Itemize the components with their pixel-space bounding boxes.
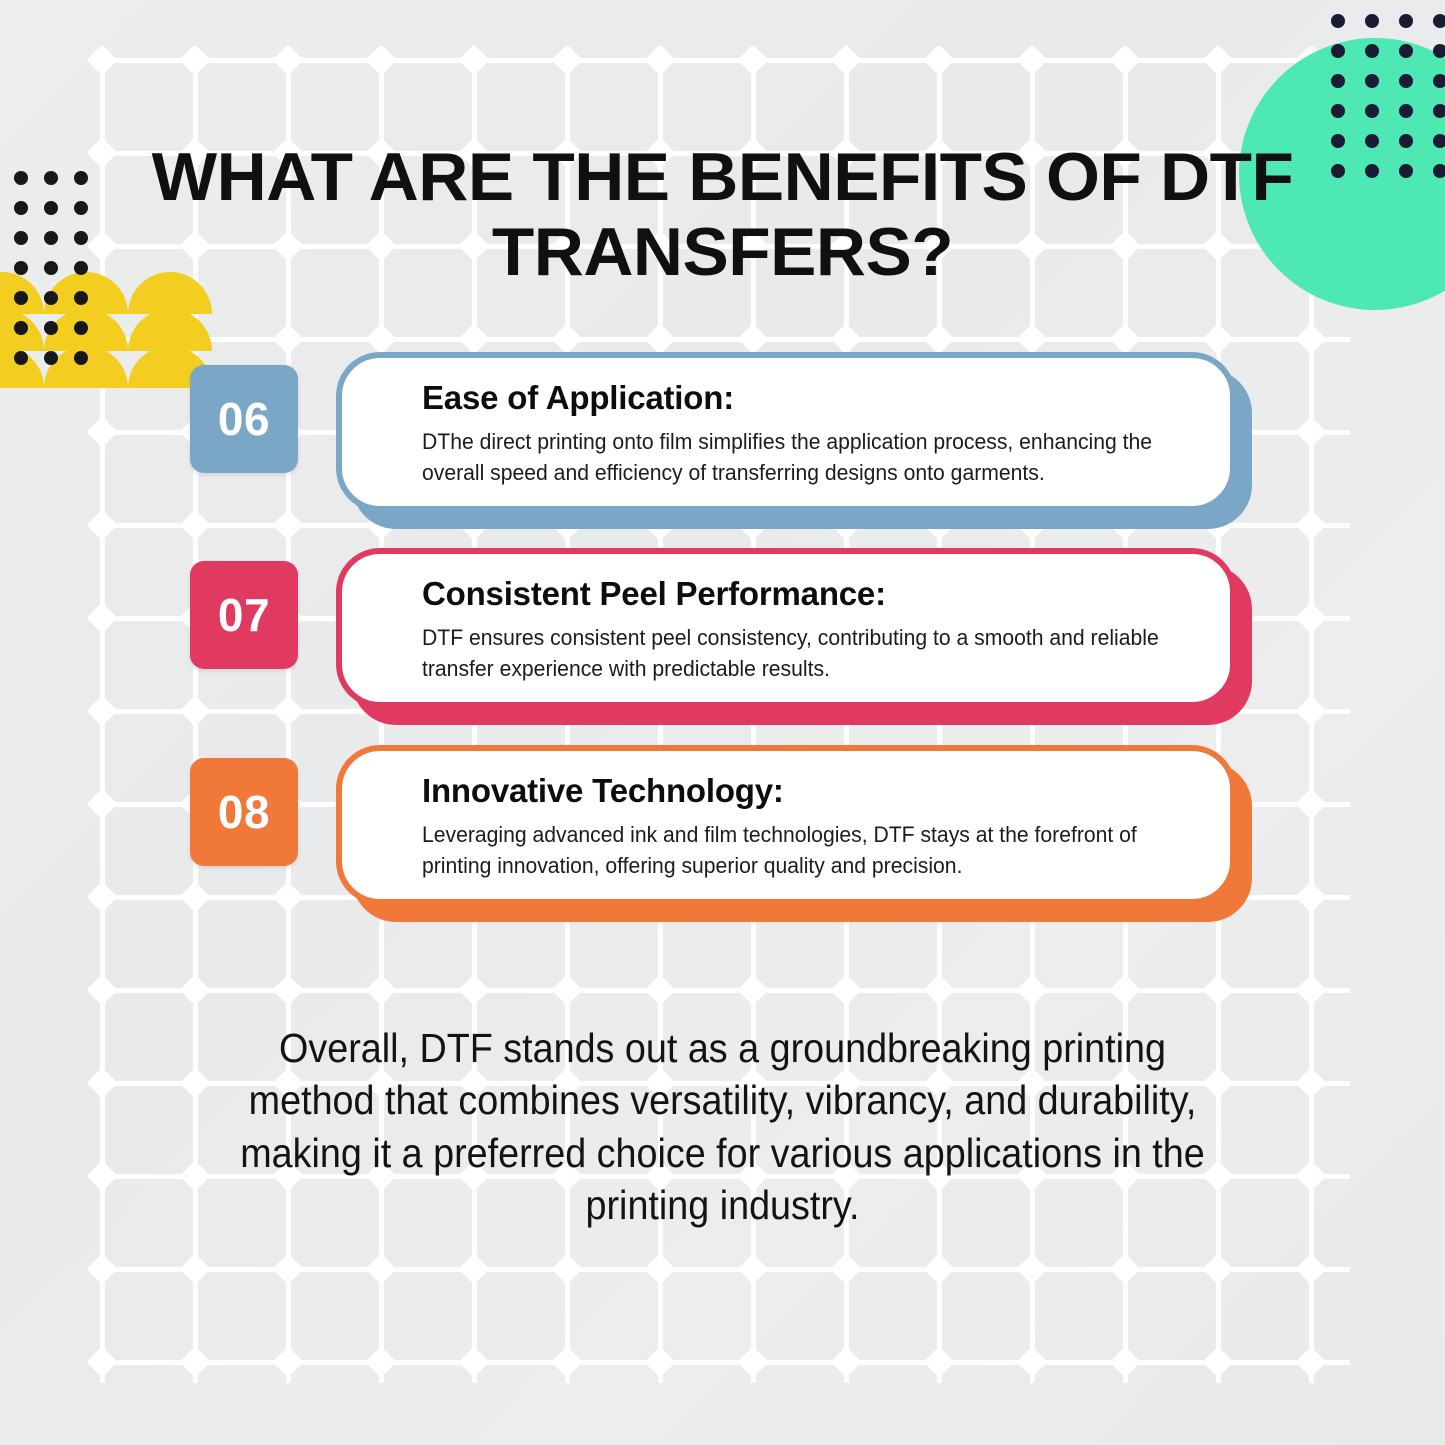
card-surface[interactable]: Ease of Application:DThe direct printing… [336, 352, 1236, 512]
footer-summary-text: Overall, DTF stands out as a groundbreak… [214, 1022, 1231, 1232]
card-body-text: Leveraging advanced ink and film technol… [422, 819, 1189, 881]
card-title: Ease of Application: [422, 380, 1192, 416]
card-surface[interactable]: Innovative Technology:Leveraging advance… [336, 745, 1236, 905]
card-number: 08 [218, 785, 270, 839]
benefit-card[interactable]: 06Ease of Application:DThe direct printi… [0, 347, 1445, 532]
card-title: Consistent Peel Performance: [422, 576, 1192, 612]
card-number-badge: 06 [190, 365, 298, 473]
card-number: 06 [218, 392, 270, 446]
card-surface[interactable]: Consistent Peel Performance:DTF ensures … [336, 548, 1236, 708]
card-number-badge: 07 [190, 561, 298, 669]
benefit-card[interactable]: 07Consistent Peel Performance:DTF ensure… [0, 543, 1445, 728]
infographic-poster: WHAT ARE THE BENEFITS OF DTF TRANSFERS? … [0, 0, 1445, 1445]
benefit-card[interactable]: 08Innovative Technology:Leveraging advan… [0, 740, 1445, 925]
card-title: Innovative Technology: [422, 773, 1192, 809]
card-number-badge: 08 [190, 758, 298, 866]
card-body-text: DTF ensures consistent peel consistency,… [422, 622, 1189, 684]
card-body-text: DThe direct printing onto film simplifie… [422, 426, 1189, 488]
card-number: 07 [218, 588, 270, 642]
